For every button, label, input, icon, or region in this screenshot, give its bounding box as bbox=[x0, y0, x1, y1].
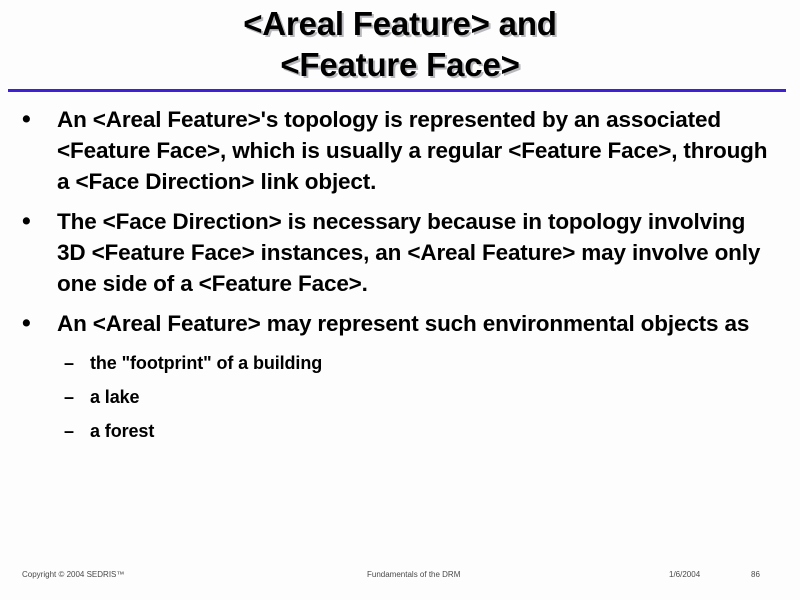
slide-footer: Copyright © 2004 SEDRIS™ Fundamentals of… bbox=[0, 570, 800, 586]
bullet-marker-icon: • bbox=[22, 308, 31, 339]
title-divider-rule bbox=[8, 89, 786, 92]
footer-presentation-title: Fundamentals of the DRM bbox=[367, 570, 460, 579]
subbullet-dash-icon: – bbox=[64, 416, 74, 446]
footer-date: 1/6/2004 bbox=[669, 570, 700, 579]
subbullet-item: – a lake bbox=[0, 382, 800, 412]
bullet-marker-icon: • bbox=[22, 104, 31, 135]
footer-page-number: 86 bbox=[751, 570, 760, 579]
bullet-text: An <Areal Feature>'s topology is represe… bbox=[57, 107, 767, 194]
bullet-item: • An <Areal Feature>'s topology is repre… bbox=[0, 104, 800, 197]
bullet-text: The <Face Direction> is necessary becaus… bbox=[57, 209, 760, 296]
subbullet-item: – the "footprint" of a building bbox=[0, 348, 800, 378]
subbullet-dash-icon: – bbox=[64, 348, 74, 378]
bullet-text: An <Areal Feature> may represent such en… bbox=[57, 311, 749, 336]
subbullet-text: a forest bbox=[90, 421, 154, 441]
bullet-marker-icon: • bbox=[22, 206, 31, 237]
subbullet-text: a lake bbox=[90, 387, 139, 407]
slide-title: <Areal Feature> and <Feature Face> bbox=[0, 0, 800, 88]
slide-title-line-1: <Areal Feature> and bbox=[243, 3, 557, 44]
subbullet-item: – a forest bbox=[0, 416, 800, 446]
bullet-item: • An <Areal Feature> may represent such … bbox=[0, 308, 800, 339]
subbullet-text: the "footprint" of a building bbox=[90, 353, 322, 373]
subbullet-list: – the "footprint" of a building – a lake… bbox=[0, 348, 800, 446]
footer-copyright: Copyright © 2004 SEDRIS™ bbox=[22, 570, 124, 579]
slide-body: • An <Areal Feature>'s topology is repre… bbox=[0, 104, 800, 450]
bullet-item: • The <Face Direction> is necessary beca… bbox=[0, 206, 800, 299]
subbullet-dash-icon: – bbox=[64, 382, 74, 412]
slide-title-line-2: <Feature Face> bbox=[280, 44, 519, 85]
